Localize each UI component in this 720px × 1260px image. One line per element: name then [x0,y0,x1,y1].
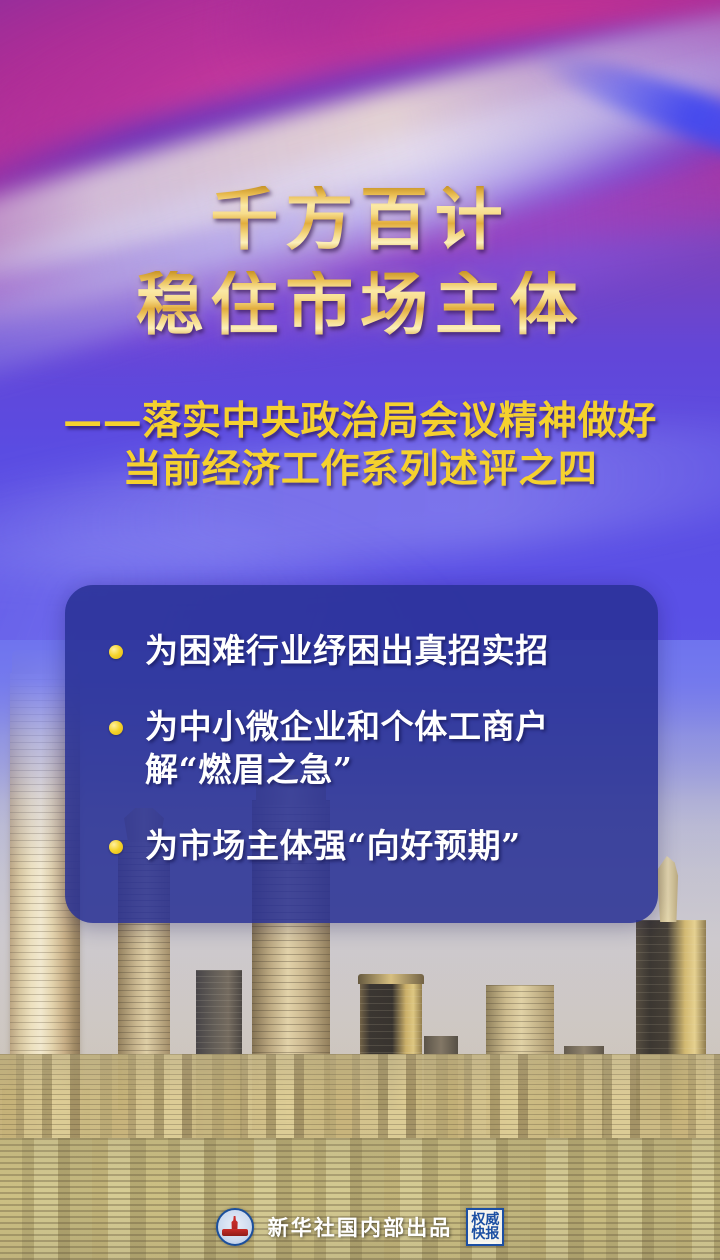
authority-bulletin-stamp: 权威 快报 [466,1208,504,1246]
poster-subtitle-line-2: 当前经济工作系列述评之四 [0,446,720,494]
ribbon-magenta-right [220,0,720,209]
list-item: 为中小微企业和个体工商户 解“燃眉之急” [109,705,632,792]
stamp-line-2: 快报 [471,1227,499,1241]
bullet-dot-icon [109,840,123,854]
list-item-label: 为中小微企业和个体工商户 解“燃眉之急” [145,705,549,792]
list-item-label: 为市场主体强“向好预期” [145,824,521,868]
list-item-label: 为困难行业纾困出真招实招 [145,629,549,673]
key-points-card: 为困难行业纾困出真招实招 为中小微企业和个体工商户 解“燃眉之急” 为市场主体强… [65,585,658,923]
list-item: 为困难行业纾困出真招实招 [109,629,632,673]
footer-credit-label: 新华社国内部出品 [268,1212,453,1242]
subtitle-block: ——落实中央政治局会议精神做好 当前经济工作系列述评之四 [0,398,720,493]
footer-credit-bar: 新华社国内部出品 权威 快报 [0,1208,720,1246]
key-points-list: 为困难行业纾困出真招实招 为中小微企业和个体工商户 解“燃眉之急” 为市场主体强… [109,629,632,867]
poster-subtitle-line-1: ——落实中央政治局会议精神做好 [0,398,720,446]
poster-title-line-1: 千方百计 [0,186,720,255]
ribbon-blue-streak [524,34,720,207]
poster-canvas: 千方百计 稳住市场主体 ——落实中央政治局会议精神做好 当前经济工作系列述评之四… [0,0,720,1260]
poster-title-line-2: 稳住市场主体 [0,271,720,340]
xinhua-logo-icon [216,1208,254,1246]
list-item: 为市场主体强“向好预期” [109,824,632,868]
bullet-dot-icon [109,645,123,659]
stamp-line-1: 权威 [471,1213,499,1227]
title-block: 千方百计 稳住市场主体 [0,186,720,341]
bullet-dot-icon [109,721,123,735]
